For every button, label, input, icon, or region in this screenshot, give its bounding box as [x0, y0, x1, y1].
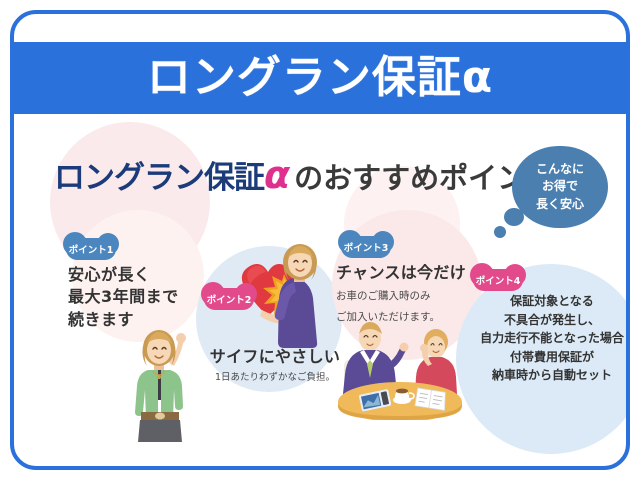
title-banner: ロングラン保証α: [14, 42, 626, 114]
point-4-title-line-4: 付帯費用保証が: [457, 348, 626, 367]
point-4-title-line-5: 納車時から自動セット: [457, 366, 626, 385]
point-badge-4: ポイント4: [473, 269, 523, 291]
point-badge-1-label: ポイント1: [69, 242, 114, 256]
point-3-title-line-1: チャンスは今だけ: [336, 262, 466, 284]
point-block-2: サイフにやさしい 1日あたりわずかなご負担。: [200, 346, 350, 385]
bubble-line-3: 長く安心: [536, 196, 584, 213]
point-2-sub-line-1: 1日あたりわずかなご負担。: [200, 371, 350, 385]
point-3-sub-line-1: お車のご購入時のみ: [336, 288, 466, 305]
point-badge-3: ポイント3: [341, 236, 391, 258]
point-4-title-line-3: 自力走行不能となった場合: [457, 329, 626, 348]
highlight-speech-bubble: こんなに お得で 長く安心: [512, 146, 608, 228]
warranty-poster: ロングラン保証αのおすすめポイント こんなに お得で 長く安心: [0, 0, 640, 480]
poster-content-area: ロングラン保証αのおすすめポイント こんなに お得で 長く安心: [14, 114, 626, 466]
point-badge-2-label: ポイント2: [207, 292, 252, 306]
bubble-line-2: お得で: [542, 178, 578, 195]
point-4-title-line-1: 保証対象となる: [457, 292, 626, 311]
point-block-3: チャンスは今だけ お車のご購入時のみ ご加入いただけます。: [336, 262, 466, 326]
illustration-consultation-at-table: [330, 320, 470, 420]
point-1-title-line-3: 続きます: [68, 309, 179, 331]
banner-title-text: ロングラン保証α: [147, 56, 493, 100]
point-2-title-line-1: サイフにやさしい: [200, 346, 350, 368]
point-block-1: 安心が長く 最大3年間まで 続きます: [68, 264, 179, 331]
headline-brand-text: ロングラン保証: [54, 160, 264, 196]
illustration-woman-green-cardigan: [124, 324, 196, 444]
point-block-4: 保証対象となる 不具合が発生し、 自力走行不能となった場合 付帯費用保証が 納車…: [457, 292, 626, 385]
point-badge-1: ポイント1: [66, 238, 116, 260]
point-1-title-line-1: 安心が長く: [68, 264, 179, 286]
headline-alpha-symbol: α: [264, 153, 290, 197]
point-badge-4-label: ポイント4: [476, 273, 521, 287]
point-1-title-line-2: 最大3年間まで: [68, 286, 179, 308]
point-badge-2: ポイント2: [204, 288, 254, 310]
headline: ロングラン保証αのおすすめポイント: [54, 156, 555, 194]
bubble-line-1: こんなに: [536, 161, 584, 178]
point-4-title-line-2: 不具合が発生し、: [457, 311, 626, 330]
point-3-sub-line-2: ご加入いただけます。: [336, 309, 466, 326]
point-badge-3-label: ポイント3: [344, 240, 389, 254]
